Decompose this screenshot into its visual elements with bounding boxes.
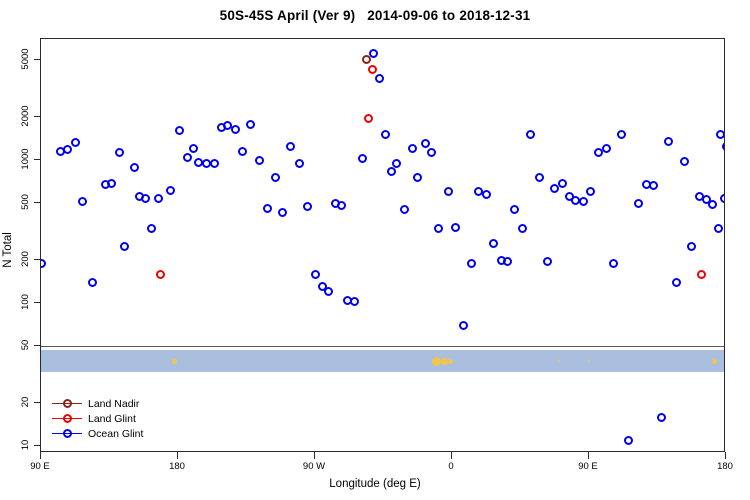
data-point-land_glint — [697, 270, 706, 279]
band-marker — [448, 359, 453, 364]
data-point-ocean_glint — [71, 138, 80, 147]
data-point-ocean_glint — [489, 239, 498, 248]
data-point-ocean_glint — [238, 147, 247, 156]
data-point-ocean_glint — [687, 242, 696, 251]
y-axis-tick-label: 20 — [20, 397, 31, 408]
data-point-ocean_glint — [189, 144, 198, 153]
x-axis-tick — [177, 452, 178, 459]
data-point-ocean_glint — [246, 120, 255, 129]
y-axis-tick — [34, 202, 40, 203]
data-point-ocean_glint — [271, 173, 280, 182]
legend-item-land-glint[interactable]: Land Glint — [52, 411, 143, 426]
data-point-ocean_glint — [311, 270, 320, 279]
data-point-ocean_glint — [78, 197, 87, 206]
y-axis-tick-label: 100 — [20, 294, 31, 310]
data-point-ocean_glint — [369, 49, 378, 58]
y-axis-title: N Total — [2, 232, 14, 268]
data-point-ocean_glint — [716, 130, 724, 139]
data-point-ocean_glint — [381, 130, 390, 139]
data-point-ocean_glint — [535, 173, 544, 182]
data-point-ocean_glint — [255, 156, 264, 165]
data-point-ocean_glint — [434, 224, 443, 233]
data-point-ocean_glint — [375, 74, 384, 83]
data-point-ocean_glint — [649, 181, 658, 190]
data-point-ocean_glint — [141, 194, 150, 203]
y-axis-tick-label: 10 — [20, 440, 31, 451]
legend-item-label: Land Nadir — [82, 398, 139, 410]
threshold-line — [41, 346, 724, 347]
y-axis-tick-label: 2000 — [20, 105, 31, 126]
data-point-ocean_glint — [130, 163, 139, 172]
data-point-land_glint — [364, 114, 373, 123]
data-point-ocean_glint — [63, 145, 72, 154]
x-axis-tick — [725, 452, 726, 459]
data-point-ocean_glint — [664, 137, 673, 146]
band-marker — [172, 359, 177, 364]
data-point-ocean_glint — [400, 205, 409, 214]
data-point-ocean_glint — [120, 242, 129, 251]
data-point-ocean_glint — [708, 200, 717, 209]
data-point-ocean_glint — [303, 202, 312, 211]
data-point-ocean_glint — [107, 179, 116, 188]
page-title: 50S-45S April (Ver 9) 2014-09-06 to 2018… — [0, 8, 750, 23]
data-point-ocean_glint — [657, 413, 666, 422]
data-point-land_glint — [156, 270, 165, 279]
y-axis-tick — [34, 159, 40, 160]
data-point-ocean_glint — [147, 224, 156, 233]
y-axis-tick — [34, 302, 40, 303]
y-axis-tick — [34, 445, 40, 446]
legend-item-label: Land Glint — [82, 413, 136, 425]
data-point-ocean_glint — [350, 297, 359, 306]
x-axis-tick-label: 90 E — [578, 461, 598, 472]
x-axis-tick-label: 180 — [169, 461, 185, 472]
data-point-ocean_glint — [88, 278, 97, 287]
data-point-ocean_glint — [680, 157, 689, 166]
data-point-ocean_glint — [408, 144, 417, 153]
y-axis-tick — [34, 259, 40, 260]
y-axis-tick — [34, 402, 40, 403]
data-point-ocean_glint — [720, 194, 724, 203]
y-axis-tick-label: 500 — [20, 194, 31, 210]
data-point-ocean_glint — [451, 223, 460, 232]
data-point-ocean_glint — [558, 179, 567, 188]
data-point-ocean_glint — [413, 173, 422, 182]
legend-symbol-icon — [52, 427, 82, 441]
y-axis-tick-label: 1000 — [20, 148, 31, 169]
x-axis-tick — [40, 452, 41, 459]
x-axis-tick — [588, 452, 589, 459]
data-point-ocean_glint — [175, 126, 184, 135]
y-axis-tick — [34, 116, 40, 117]
x-axis-tick — [314, 452, 315, 459]
data-point-ocean_glint — [526, 130, 535, 139]
y-axis-tick — [34, 345, 40, 346]
plot-frame — [40, 38, 725, 452]
x-axis-tick-label: 90 W — [303, 461, 325, 472]
band-marker — [712, 359, 717, 364]
band-marker — [558, 360, 560, 362]
data-point-ocean_glint — [295, 159, 304, 168]
data-point-ocean_glint — [482, 190, 491, 199]
data-point-ocean_glint — [609, 259, 618, 268]
legend-item-label: Ocean Glint — [82, 428, 143, 440]
data-point-ocean_glint — [634, 199, 643, 208]
band-marker — [441, 358, 448, 365]
data-point-ocean_glint — [324, 287, 333, 296]
data-point-ocean_glint — [510, 205, 519, 214]
y-axis-tick-label: 50 — [20, 340, 31, 351]
data-point-ocean_glint — [154, 194, 163, 203]
data-point-ocean_glint — [183, 153, 192, 162]
data-point-ocean_glint — [392, 159, 401, 168]
data-point-ocean_glint — [278, 208, 287, 217]
x-axis-tick-label: 90 E — [30, 461, 50, 472]
y-axis-tick-label: 200 — [20, 251, 31, 267]
data-point-ocean_glint — [263, 204, 272, 213]
data-point-ocean_glint — [427, 148, 436, 157]
data-point-ocean_glint — [543, 257, 552, 266]
x-axis-title: Longitude (deg E) — [0, 478, 750, 490]
data-point-ocean_glint — [624, 436, 633, 445]
data-point-ocean_glint — [617, 130, 626, 139]
x-axis-tick-label: 180 — [717, 461, 733, 472]
data-point-ocean_glint — [602, 144, 611, 153]
data-point-ocean_glint — [579, 197, 588, 206]
y-axis-tick — [34, 59, 40, 60]
data-point-ocean_glint — [166, 186, 175, 195]
y-axis-tick-label: 5000 — [20, 48, 31, 69]
data-point-ocean_glint — [421, 139, 430, 148]
legend-symbol-icon — [52, 397, 82, 411]
data-point-ocean_glint — [286, 142, 295, 151]
data-point-ocean_glint — [387, 167, 396, 176]
data-point-ocean_glint — [503, 257, 512, 266]
data-point-ocean_glint — [722, 142, 725, 151]
data-point-ocean_glint — [518, 224, 527, 233]
data-point-ocean_glint — [210, 159, 219, 168]
data-point-ocean_glint — [231, 125, 240, 134]
data-point-ocean_glint — [586, 187, 595, 196]
chart-legend: Land NadirLand GlintOcean Glint — [52, 396, 143, 441]
legend-item-land-nadir[interactable]: Land Nadir — [52, 396, 143, 411]
data-point-ocean_glint — [115, 148, 124, 157]
data-point-ocean_glint — [41, 259, 46, 268]
data-point-ocean_glint — [444, 187, 453, 196]
data-point-ocean_glint — [672, 278, 681, 287]
x-axis-tick-label: 0 — [448, 461, 453, 472]
data-point-ocean_glint — [358, 154, 367, 163]
data-point-ocean_glint — [467, 259, 476, 268]
data-point-ocean_glint — [714, 224, 723, 233]
data-point-ocean_glint — [459, 321, 468, 330]
chart-root: 50S-45S April (Ver 9) 2014-09-06 to 2018… — [0, 0, 750, 500]
legend-item-ocean-glint[interactable]: Ocean Glint — [52, 426, 143, 441]
band-marker — [432, 357, 441, 366]
data-point-land_glint — [368, 65, 377, 74]
plot-area — [41, 39, 724, 451]
coverage-band — [41, 350, 724, 372]
data-point-ocean_glint — [337, 201, 346, 210]
legend-symbol-icon — [52, 412, 82, 426]
x-axis-tick — [451, 452, 452, 459]
